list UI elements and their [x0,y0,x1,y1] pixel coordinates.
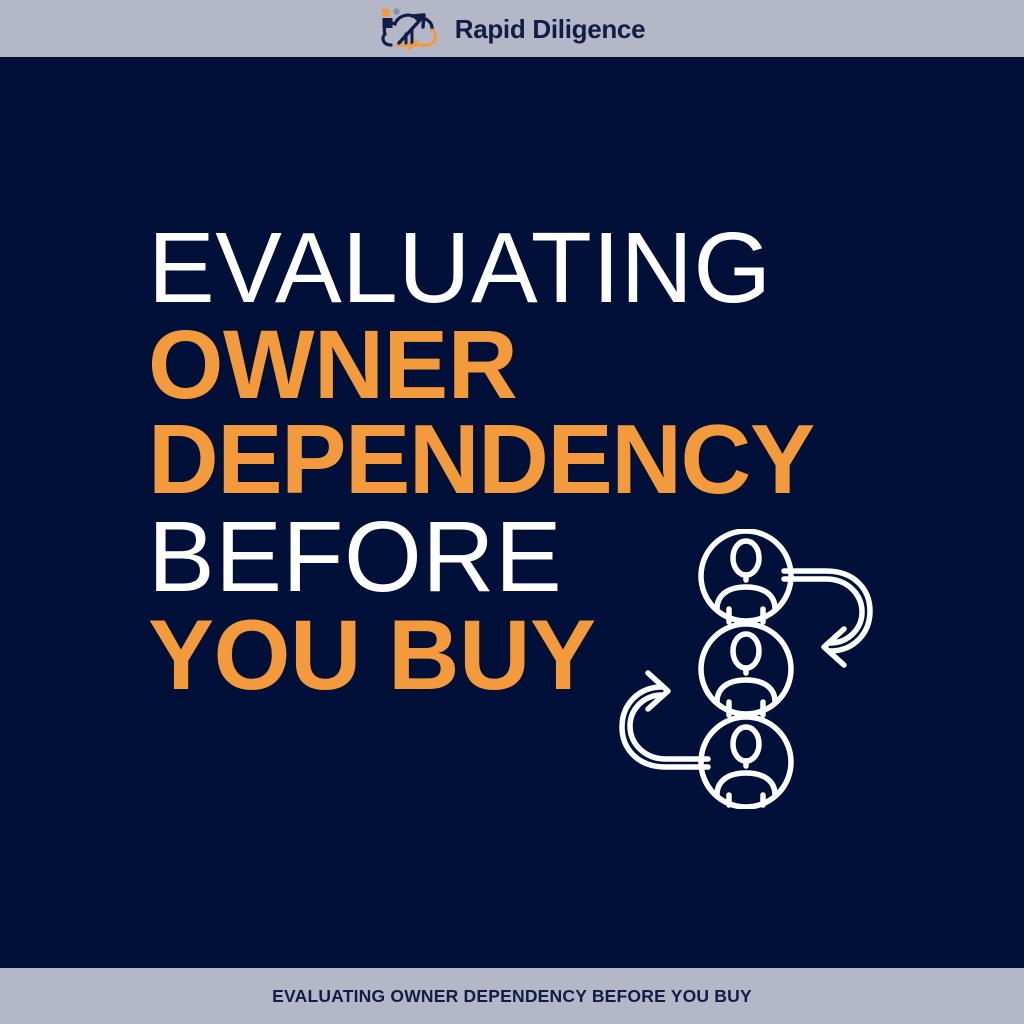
poster-canvas: Rapid Diligence EVALUATING OWNER DEPENDE… [0,0,1024,1024]
brand-name: Rapid Diligence [455,16,646,42]
cloud-growth-arrow-logo-icon [379,7,443,51]
headline-line-2: OWNER [148,323,908,406]
footer-band: EVALUATING OWNER DEPENDENCY BEFORE YOU B… [0,968,1024,1024]
footer-caption: EVALUATING OWNER DEPENDENCY BEFORE YOU B… [272,986,752,1007]
three-people-circular-flow-icon [598,529,894,809]
headline-line-1: EVALUATING [148,225,908,311]
body-area: EVALUATING OWNER DEPENDENCY BEFORE YOU B… [0,57,1024,968]
headline-line-3: DEPENDENCY [148,417,908,501]
header-band: Rapid Diligence [0,0,1024,57]
